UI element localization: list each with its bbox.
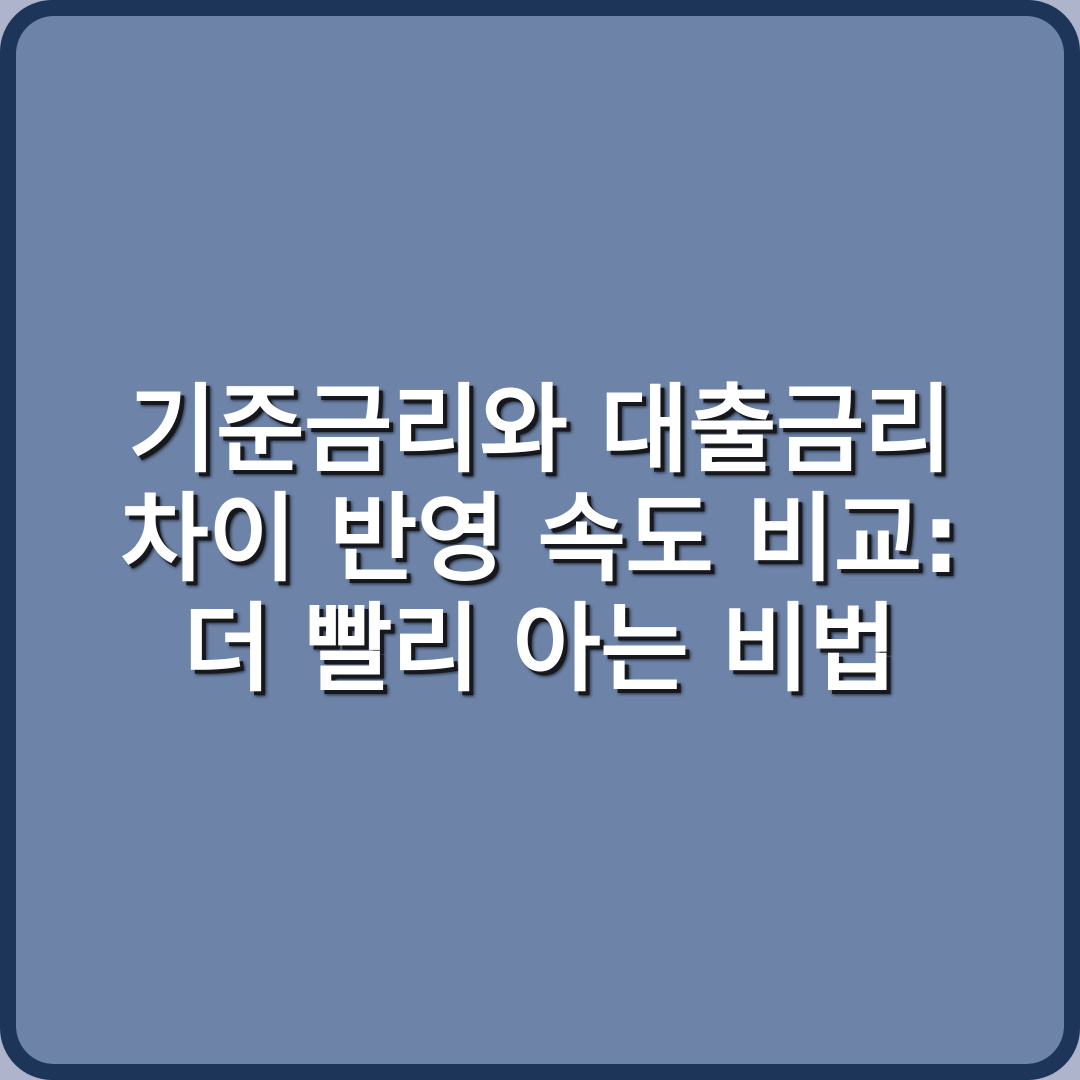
title-line-3: 더 빨리 아는 비법 (64, 595, 1016, 704)
title-line-1: 기준금리와 대출금리 (64, 376, 1016, 485)
card-surface: 기준금리와 대출금리 차이 반영 속도 비교: 더 빨리 아는 비법 (16, 16, 1064, 1064)
card-frame-border: 기준금리와 대출금리 차이 반영 속도 비교: 더 빨리 아는 비법 (0, 0, 1080, 1080)
poster-root: 기준금리와 대출금리 차이 반영 속도 비교: 더 빨리 아는 비법 (0, 0, 1080, 1080)
title-block: 기준금리와 대출금리 차이 반영 속도 비교: 더 빨리 아는 비법 (16, 376, 1064, 704)
page-title: 기준금리와 대출금리 차이 반영 속도 비교: 더 빨리 아는 비법 (64, 376, 1016, 704)
title-line-2: 차이 반영 속도 비교: (64, 485, 1016, 594)
